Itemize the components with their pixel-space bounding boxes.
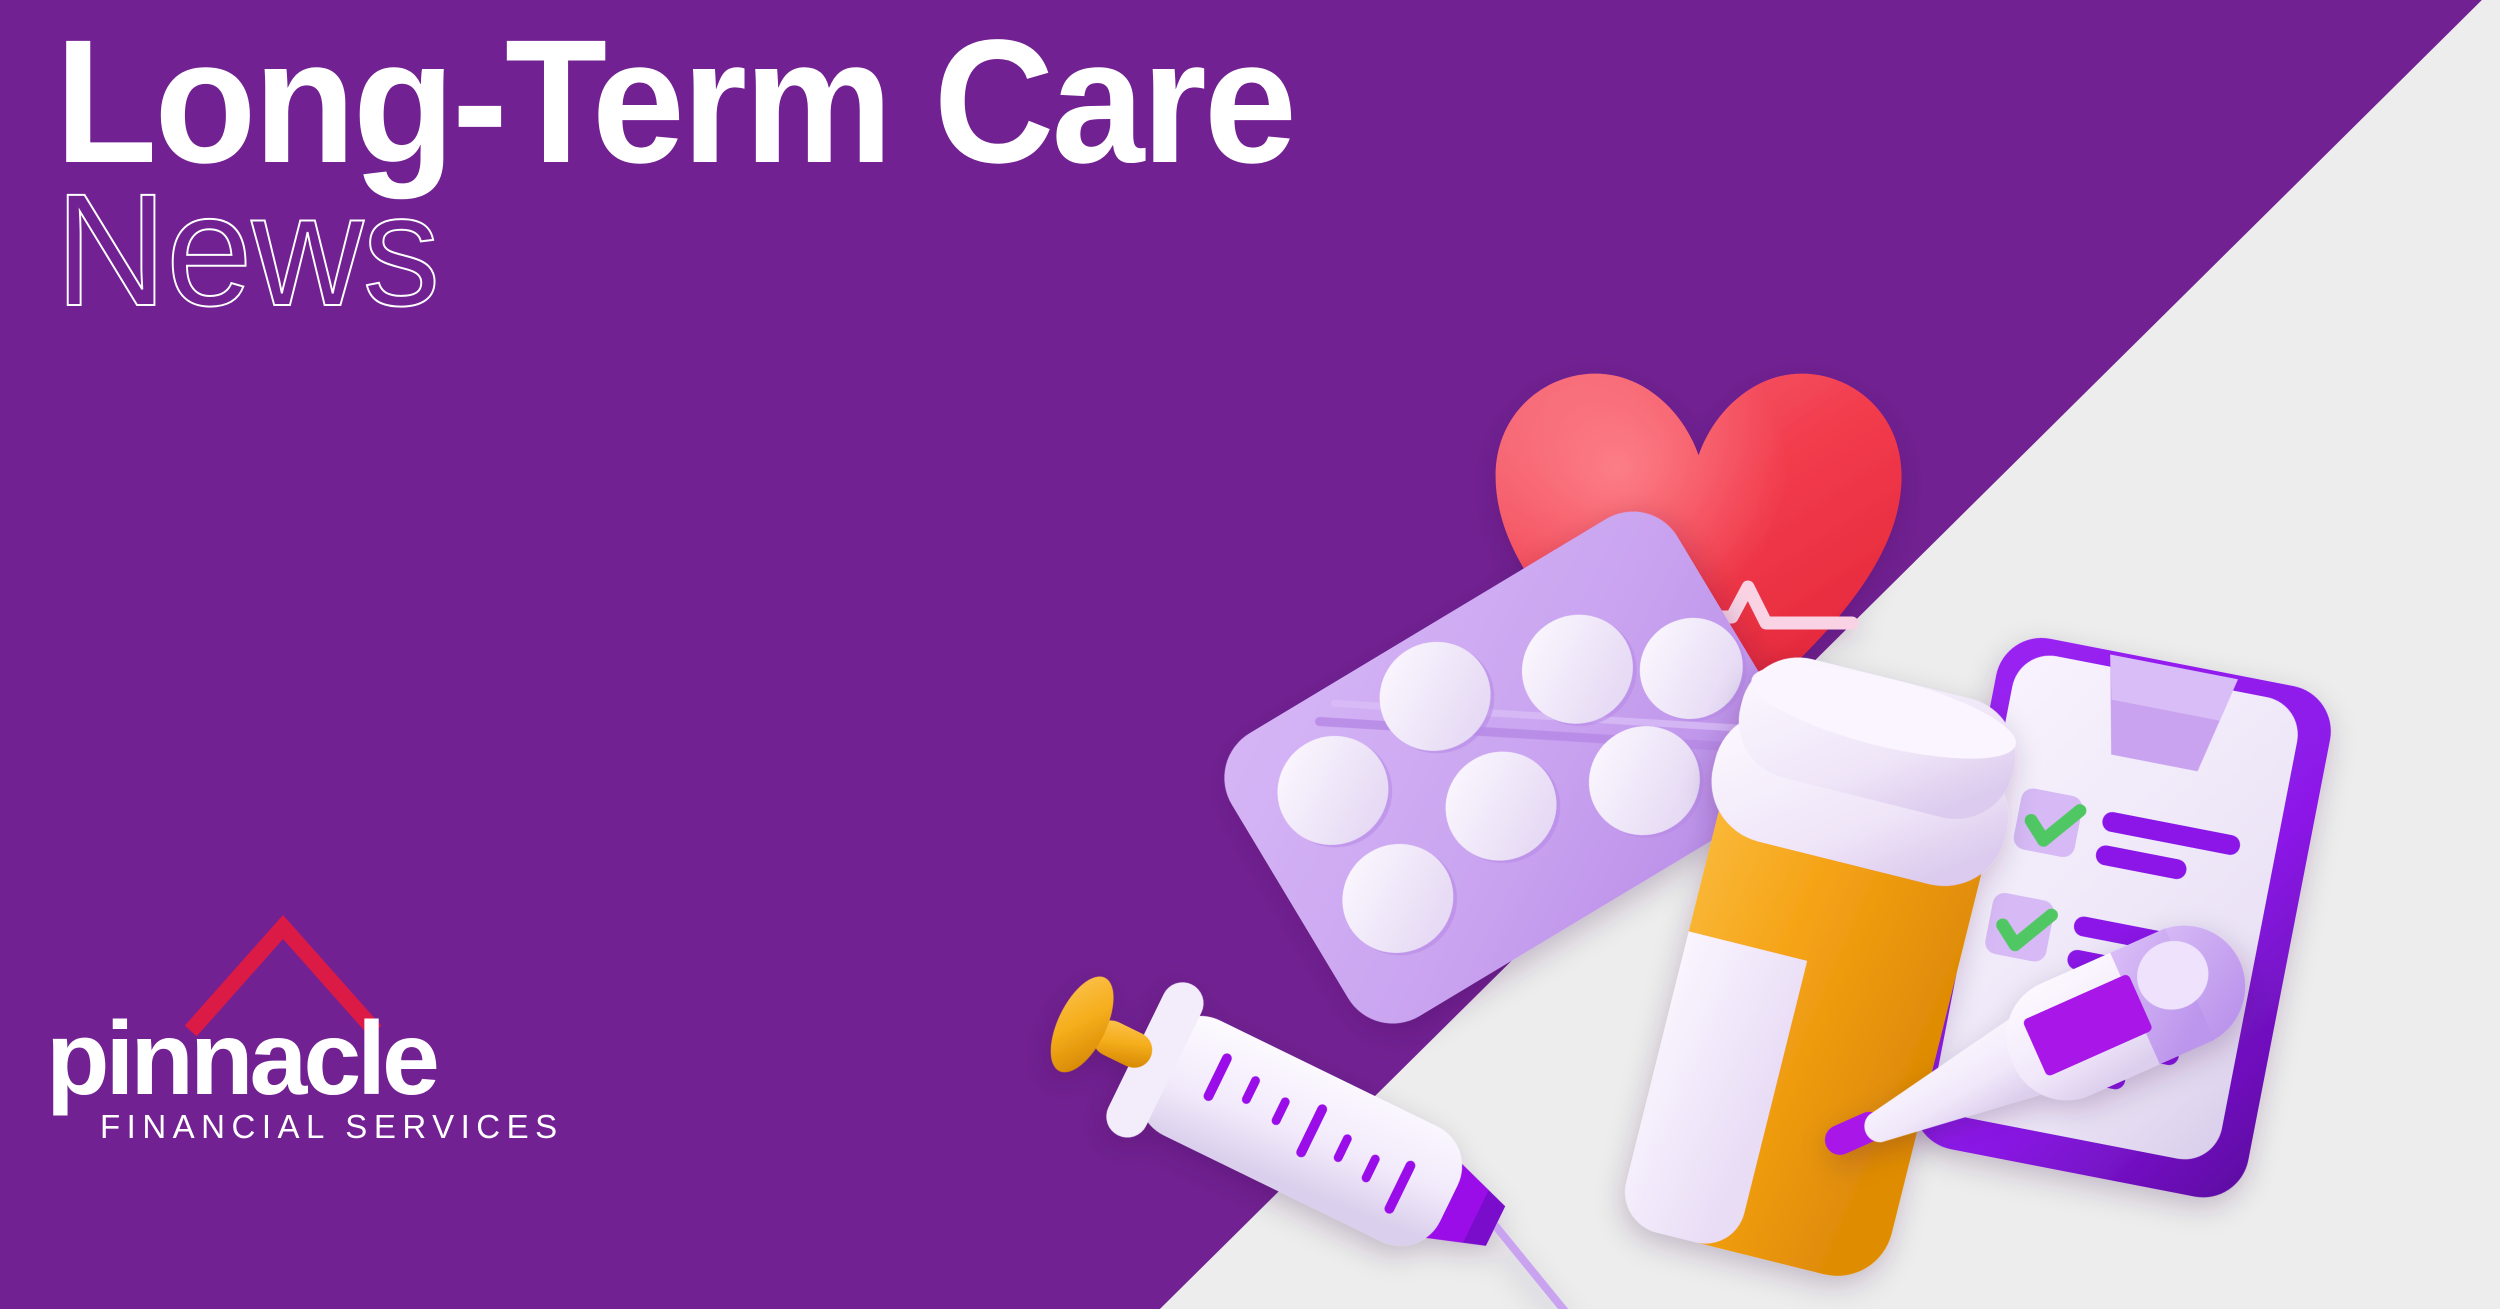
long-term-care-news-banner: Long-Term Care News pinnacle FINANCIAL S…	[0, 0, 2500, 1309]
headline-line-2: News	[55, 176, 1320, 323]
logo-tagline: FINANCIAL SERVICES	[100, 1110, 564, 1143]
pinnacle-logo: pinnacle FINANCIAL SERVICES	[48, 905, 468, 1155]
logo-wordmark: pinnacle	[46, 1007, 436, 1111]
page-title: Long-Term Care News	[55, 22, 1359, 323]
medical-items-illustration	[1100, 345, 2320, 1215]
